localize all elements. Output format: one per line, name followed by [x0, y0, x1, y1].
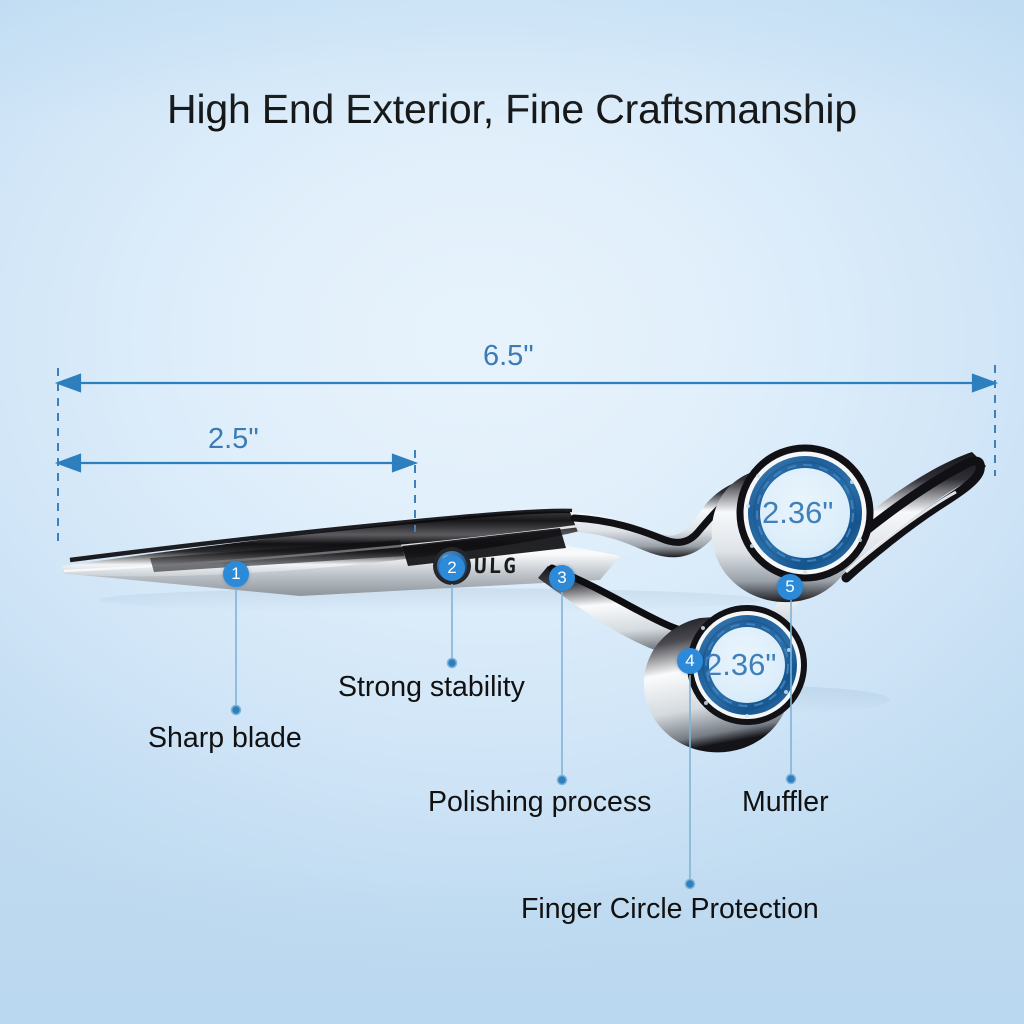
- infographic-canvas: High End Exterior, Fine Craftsmanship: [0, 0, 1024, 1024]
- ring-label-lower: 2.36": [705, 647, 776, 683]
- dimension-label-blade-length: 2.5": [208, 423, 259, 456]
- callout-label-muffler: Muffler: [742, 786, 829, 819]
- callout-label-strong-stability: Strong stability: [338, 671, 525, 704]
- callout-badge-2[interactable]: 2: [439, 555, 465, 581]
- callout-badge-3[interactable]: 3: [549, 565, 575, 591]
- dimension-arrow-blade: [58, 455, 415, 471]
- ring-label-upper: 2.36": [762, 495, 833, 531]
- callout-label-polishing-process: Polishing process: [428, 786, 651, 819]
- callout-badge-5[interactable]: 5: [777, 574, 803, 600]
- callout-label-sharp-blade: Sharp blade: [148, 722, 302, 755]
- callout-leader-lines: [232, 584, 796, 889]
- ulg-brand-logo: ULG: [474, 554, 519, 578]
- dimension-label-overall-length: 6.5": [483, 340, 534, 373]
- callout-badge-1[interactable]: 1: [223, 561, 249, 587]
- measurement-overlay: [0, 0, 1024, 1024]
- callout-label-finger-circle-protection: Finger Circle Protection: [521, 893, 819, 926]
- callout-badge-4[interactable]: 4: [677, 648, 703, 674]
- dimension-arrow-overall: [58, 375, 995, 391]
